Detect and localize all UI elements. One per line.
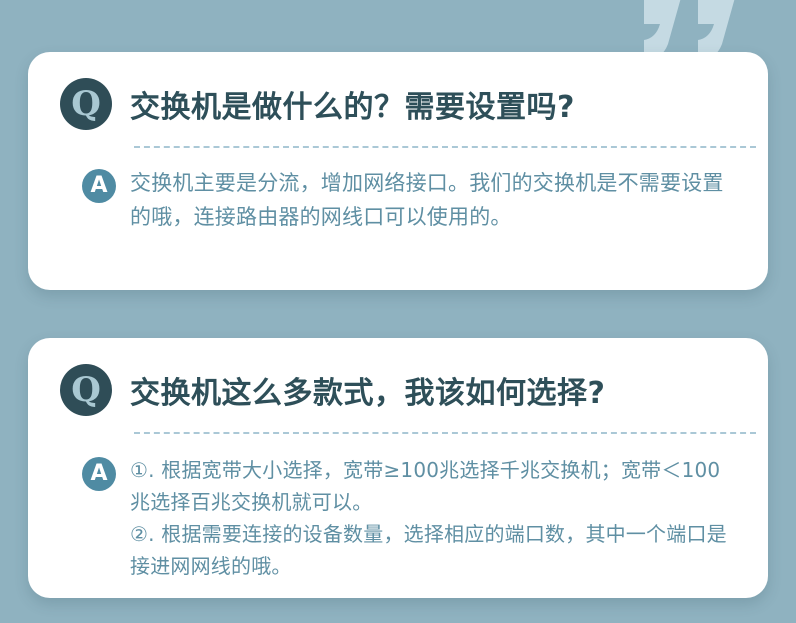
answer-row: A ①. 根据宽带大小选择，宽带≥100兆选择千兆交换机；宽带＜100兆选择百兆… (58, 454, 738, 582)
question-title: 交换机是做什么的？需要设置吗? (130, 82, 575, 126)
question-row: Q 交换机是做什么的？需要设置吗? (58, 78, 738, 130)
card-divider (134, 432, 756, 434)
answer-text: 交换机主要是分流，增加网络接口。我们的交换机是不需要设置的哦，连接路由器的网线口… (130, 166, 738, 234)
question-row: Q 交换机这么多款式，我该如何选择? (58, 364, 738, 416)
faq-page: Q 交换机是做什么的？需要设置吗? A 交换机主要是分流，增加网络接口。我们的交… (0, 0, 796, 623)
answer-badge: A (82, 457, 116, 491)
card-divider (134, 146, 756, 148)
faq-card: Q 交换机这么多款式，我该如何选择? A ①. 根据宽带大小选择，宽带≥100兆… (28, 338, 768, 598)
answer-badge: A (82, 169, 116, 203)
answer-text: ①. 根据宽带大小选择，宽带≥100兆选择千兆交换机；宽带＜100兆选择百兆交换… (130, 454, 738, 582)
answer-line: ①. 根据宽带大小选择，宽带≥100兆选择千兆交换机；宽带＜100兆选择百兆交换… (130, 454, 738, 518)
answer-row: A 交换机主要是分流，增加网络接口。我们的交换机是不需要设置的哦，连接路由器的网… (58, 166, 738, 234)
faq-card: Q 交换机是做什么的？需要设置吗? A 交换机主要是分流，增加网络接口。我们的交… (28, 52, 768, 290)
answer-line: ②. 根据需要连接的设备数量，选择相应的端口数，其中一个端口是接进网网线的哦。 (130, 518, 738, 582)
question-badge: Q (60, 364, 112, 416)
question-title: 交换机这么多款式，我该如何选择? (130, 368, 605, 412)
question-badge: Q (60, 78, 112, 130)
answer-line: 交换机主要是分流，增加网络接口。我们的交换机是不需要设置的哦，连接路由器的网线口… (130, 166, 738, 234)
